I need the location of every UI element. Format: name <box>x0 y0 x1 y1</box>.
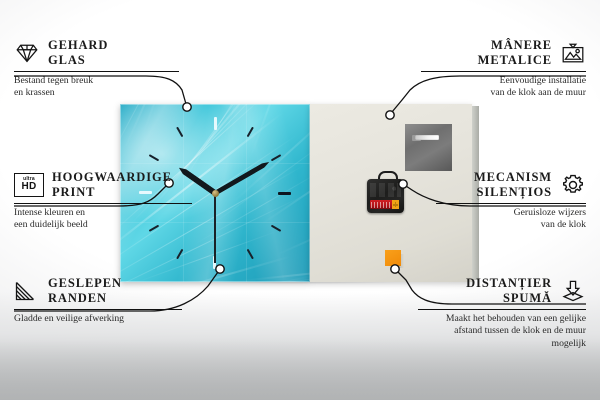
gear-icon <box>560 172 586 198</box>
diamond-icon <box>14 40 40 66</box>
callout-mecanism-silentios: MECANISM SILENȚIOS Geruisloze wijzers va… <box>436 170 586 232</box>
spacer-down-arrow-icon <box>560 278 586 304</box>
callout-description: Maakt het behouden van een gelijke afsta… <box>418 313 586 350</box>
callout-distantier-spuma: DISTANȚIER SPUMĂ Maakt het behouden van … <box>418 276 586 350</box>
callout-header: DISTANȚIER SPUMĂ <box>418 276 586 305</box>
callout-header: GESLEPEN RANDEN <box>14 276 182 305</box>
infographic-canvas: GEHARD GLAS Bestand tegen breuk en krass… <box>0 0 600 400</box>
callout-rule <box>14 71 179 72</box>
callout-hoogwaardige-print: ultra HD HOOGWAARDIGE PRINT Intense kleu… <box>14 170 192 232</box>
callout-rule <box>421 71 586 72</box>
callout-description: Intense kleuren en een duidelijk beeld <box>14 207 192 232</box>
ultra-hd-bottom-text: HD <box>21 182 36 192</box>
callout-header: MECANISM SILENȚIOS <box>436 170 586 199</box>
node-mecanism-silentios <box>399 180 407 188</box>
callout-header: GEHARD GLAS <box>14 38 179 67</box>
callout-header: MÂNERE METALICE <box>421 38 586 67</box>
callout-title: HOOGWAARDIGE PRINT <box>52 170 172 199</box>
callout-header: ultra HD HOOGWAARDIGE PRINT <box>14 170 192 199</box>
callout-manere-metalice: MÂNERE METALICE Eenvoudige installatie v… <box>421 38 586 100</box>
callout-gehard-glas: GEHARD GLAS Bestand tegen breuk en krass… <box>14 38 179 100</box>
callout-description: Bestand tegen breuk en krassen <box>14 75 179 100</box>
callout-geslepen-randen: GESLEPEN RANDEN Gladde en veilige afwerk… <box>14 276 182 325</box>
callout-rule <box>14 203 192 204</box>
callout-title: GESLEPEN RANDEN <box>48 276 122 305</box>
callout-description: Geruisloze wijzers van de klok <box>436 207 586 232</box>
picture-hanger-icon <box>560 40 586 66</box>
beveled-edges-icon <box>14 278 40 304</box>
callout-description: Gladde en veilige afwerking <box>14 313 182 325</box>
callout-title: MÂNERE METALICE <box>478 38 552 67</box>
callout-title: DISTANȚIER SPUMĂ <box>466 276 552 305</box>
callout-rule <box>418 309 586 310</box>
callout-rule <box>436 203 586 204</box>
ultra-hd-icon: ultra HD <box>14 173 44 197</box>
node-distantier-spuma <box>391 265 399 273</box>
node-gehard-glas <box>183 103 191 111</box>
callout-description: Eenvoudige installatie van de klok aan d… <box>421 75 586 100</box>
node-manere-metalice <box>386 111 394 119</box>
callout-title: GEHARD GLAS <box>48 38 108 67</box>
callout-title: MECANISM SILENȚIOS <box>474 170 552 199</box>
callout-rule <box>14 309 182 310</box>
node-geslepen-randen <box>216 265 224 273</box>
